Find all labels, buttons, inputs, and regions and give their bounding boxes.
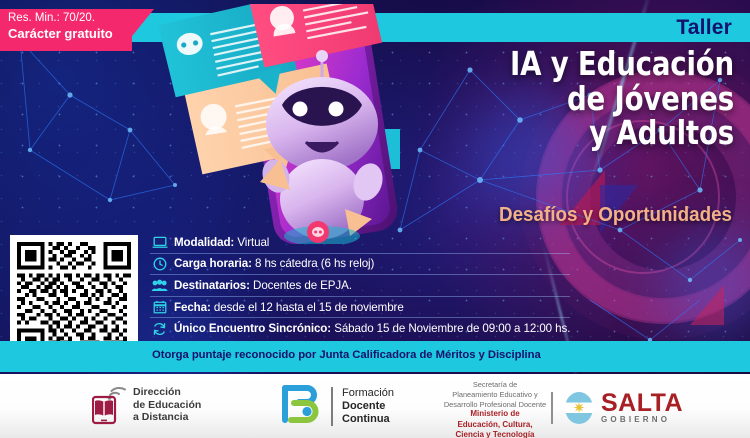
accreditation-band: Otorga puntaje reconocido por Junta Cali… [0, 341, 750, 372]
clock-icon [150, 256, 169, 272]
people-icon [150, 277, 169, 293]
salta-name: SALTA [601, 392, 683, 415]
ministry-line-2: Planeamiento Educativo y [430, 390, 560, 400]
ribbon-text-group: Res. Min.: 70/20. Carácter gratuito [8, 11, 134, 42]
accreditation-text: Otorga puntaje reconocido por Junta Cali… [152, 349, 541, 361]
ministry-line-1: Secretaría de [430, 380, 560, 390]
title-line-2: de Jóvenes [334, 83, 734, 116]
detail-row-modalidad: Modalidad: Virtual [150, 232, 570, 254]
free-of-charge-label: Carácter gratuito [8, 26, 134, 43]
logo-salta-gobierno: ✷ SALTA GOBIERNO [565, 392, 683, 424]
detail-value: desde el 12 hasta el 15 de noviembre [214, 301, 404, 314]
detail-label: Carga horaria: [174, 257, 252, 270]
detail-row-encuentro: Único Encuentro Sincrónico: Sábado 15 de… [150, 318, 570, 339]
logo-dead-text: Dirección de Educación a Distancia [133, 386, 201, 424]
course-details-list: Modalidad: Virtual Carga horaria: 8 hs c… [150, 232, 570, 339]
detail-text: Destinatarios: Docentes de EPJA. [174, 279, 352, 292]
dead-line-1: Dirección [133, 386, 201, 399]
laptop-icon [150, 234, 169, 250]
detail-value: Virtual [237, 236, 269, 249]
detail-label: Único Encuentro Sincrónico: [174, 322, 331, 335]
logo-fdc-text: Formación Docente Continua [331, 387, 394, 427]
resolution-number: Res. Min.: 70/20. [8, 11, 134, 26]
logo-ministerio-educacion: Secretaría de Planeamiento Educativo y D… [430, 380, 560, 438]
fdc-monogram-icon [280, 384, 322, 429]
title-line-1: IA y Educación [334, 48, 734, 81]
sync-icon [150, 321, 169, 337]
dead-line-2: de Educación [133, 399, 201, 412]
ministry-line-4: Ministerio de [430, 409, 560, 420]
detail-row-destinatarios: Destinatarios: Docentes de EPJA. [150, 275, 570, 297]
calendar-icon [150, 299, 169, 315]
sun-shield-icon: ✷ [565, 392, 593, 424]
qr-code-image [17, 242, 131, 356]
ministry-line-5: Educación, Cultura, [430, 420, 560, 431]
detail-value: Sábado 15 de Noviembre de 09:00 a 12:00 … [334, 322, 570, 335]
detail-value: 8 hs cátedra (6 hs reloj) [255, 257, 374, 270]
fdc-line-2: Docente [342, 400, 394, 413]
sun-glyph: ✷ [573, 402, 586, 415]
workshop-label: Taller [676, 14, 732, 42]
fdc-line-3: Continua [342, 413, 394, 426]
detail-label: Destinatarios: [174, 279, 250, 292]
dead-line-3: a Distancia [133, 411, 201, 424]
detail-label: Modalidad: [174, 236, 234, 249]
logo-formacion-docente-continua: Formación Docente Continua [280, 384, 394, 429]
ministry-line-6: Ciencia y Tecnología [430, 430, 560, 438]
detail-row-carga-horaria: Carga horaria: 8 hs cátedra (6 hs reloj) [150, 254, 570, 276]
detail-text: Modalidad: Virtual [174, 236, 269, 249]
detail-text: Carga horaria: 8 hs cátedra (6 hs reloj) [174, 257, 374, 270]
open-book-wifi-icon [92, 385, 126, 425]
detail-text: Fecha: desde el 12 hasta el 15 de noviem… [174, 301, 404, 314]
page-subtitle: Desafíos y Oportunidades [328, 205, 732, 225]
poster-canvas: Taller Res. Min.: 70/20. Carácter gratui… [0, 0, 750, 438]
salta-wordmark: SALTA GOBIERNO [601, 392, 683, 424]
detail-row-fecha: Fecha: desde el 12 hasta el 15 de noviem… [150, 297, 570, 319]
title-line-3: y Adultos [334, 117, 734, 150]
page-title: IA y Educación de Jóvenes y Adultos [334, 48, 734, 152]
detail-text: Único Encuentro Sincrónico: Sábado 15 de… [174, 322, 570, 335]
detail-value: Docentes de EPJA. [253, 279, 352, 292]
logo-direccion-educacion-distancia: Dirección de Educación a Distancia [92, 385, 201, 425]
fdc-line-1: Formación [342, 387, 394, 400]
ministry-line-3: Desarrollo Profesional Docente [430, 400, 560, 410]
detail-label: Fecha: [174, 301, 211, 314]
footer-divider [551, 392, 553, 424]
